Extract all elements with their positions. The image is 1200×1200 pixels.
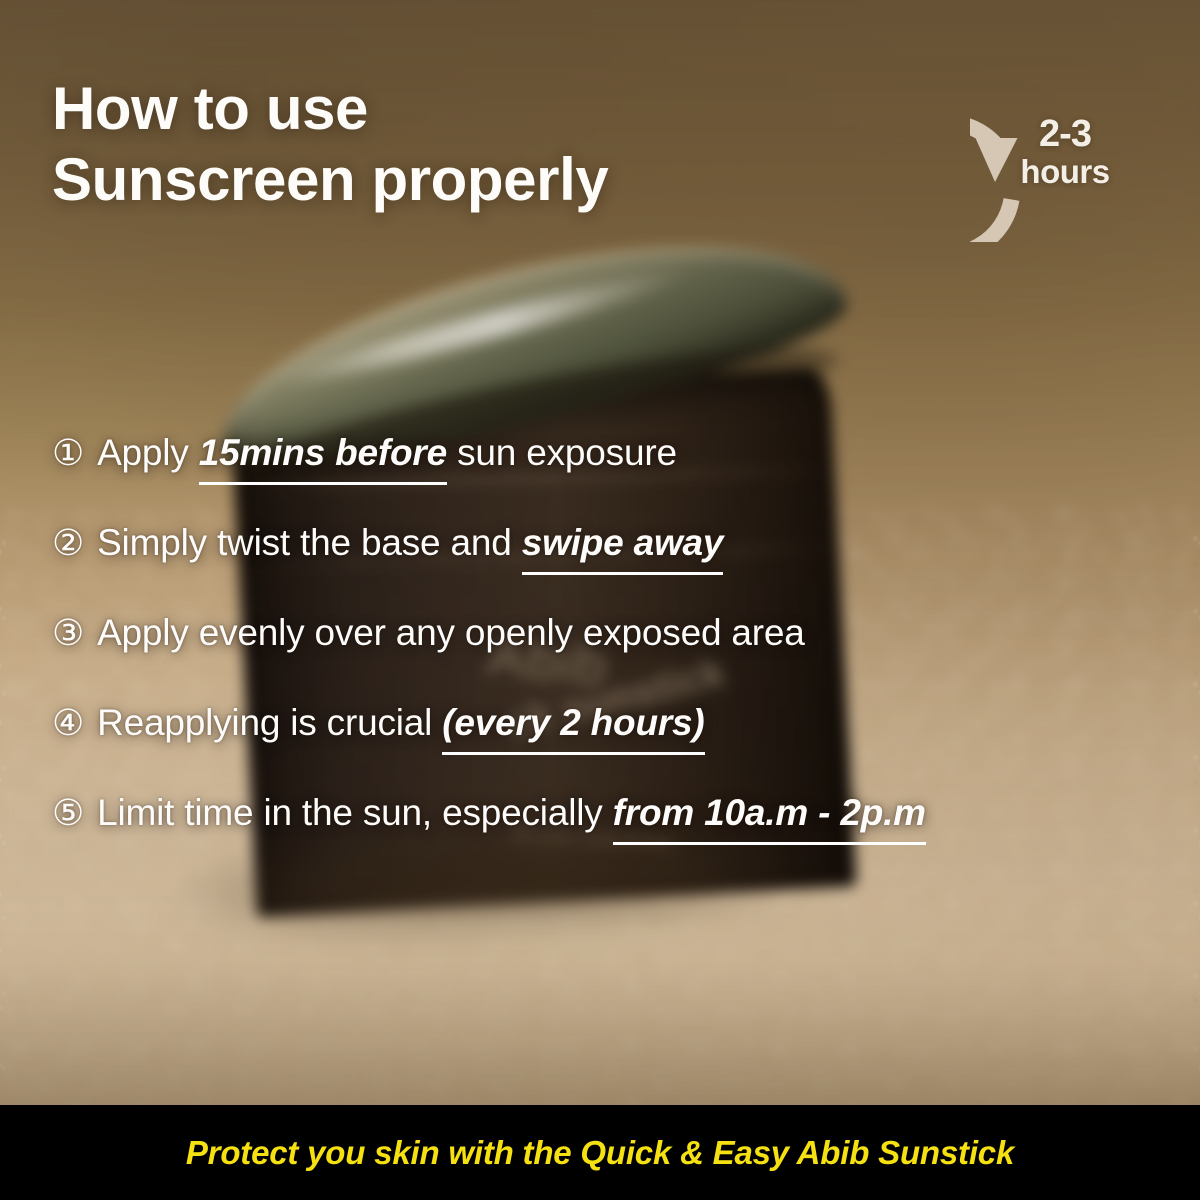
step-emphasis: from 10a.m - 2p.m bbox=[613, 792, 926, 845]
step-text-after: sun exposure bbox=[447, 432, 677, 473]
step-text-before: Reapplying is crucial bbox=[97, 702, 442, 743]
step-number: ③ bbox=[52, 615, 84, 651]
step-emphasis: 15mins before bbox=[199, 432, 447, 485]
step-text-before: Simply twist the base and bbox=[97, 522, 522, 563]
list-item: ④ Reapplying is crucial (every 2 hours) bbox=[52, 702, 1162, 792]
list-item: ③ Apply evenly over any openly exposed a… bbox=[52, 612, 1162, 702]
step-text: Apply 15mins before sun exposure bbox=[97, 432, 677, 474]
bottom-tagline-banner: Protect you skin with the Quick & Easy A… bbox=[0, 1105, 1200, 1200]
step-text: Apply evenly over any openly exposed are… bbox=[97, 612, 805, 654]
instruction-list: ① Apply 15mins before sun exposure ② Sim… bbox=[52, 432, 1162, 882]
step-text-before: Apply evenly over any openly exposed are… bbox=[97, 612, 805, 653]
reapply-hours-range: 2-3 bbox=[1039, 114, 1091, 154]
page-title-line-2: Sunscreen properly bbox=[52, 145, 852, 216]
step-number: ① bbox=[52, 435, 84, 471]
promo-poster: Abib ck sunstick Broad Spectrum How to u… bbox=[0, 0, 1200, 1200]
step-number: ② bbox=[52, 525, 84, 561]
reapply-timer-badge: 2-3 hours bbox=[970, 62, 1150, 242]
step-emphasis: (every 2 hours) bbox=[442, 702, 704, 755]
list-item: ② Simply twist the base and swipe away bbox=[52, 522, 1162, 612]
step-number: ④ bbox=[52, 705, 84, 741]
step-number: ⑤ bbox=[52, 795, 84, 831]
tagline-text: Protect you skin with the Quick & Easy A… bbox=[186, 1134, 1014, 1172]
page-title-line-1: How to use bbox=[52, 74, 852, 145]
list-item: ⑤ Limit time in the sun, especially from… bbox=[52, 792, 1162, 882]
step-text-before: Apply bbox=[97, 432, 199, 473]
step-text-before: Limit time in the sun, especially bbox=[97, 792, 613, 833]
list-item: ① Apply 15mins before sun exposure bbox=[52, 432, 1162, 522]
step-emphasis: swipe away bbox=[522, 522, 724, 575]
reapply-timer-label: 2-3 hours bbox=[970, 62, 1150, 242]
step-text: Simply twist the base and swipe away bbox=[97, 522, 723, 564]
reapply-hours-unit: hours bbox=[1020, 155, 1109, 190]
page-title: How to use Sunscreen properly bbox=[52, 74, 852, 216]
step-text: Reapplying is crucial (every 2 hours) bbox=[97, 702, 704, 744]
step-text: Limit time in the sun, especially from 1… bbox=[97, 792, 926, 834]
